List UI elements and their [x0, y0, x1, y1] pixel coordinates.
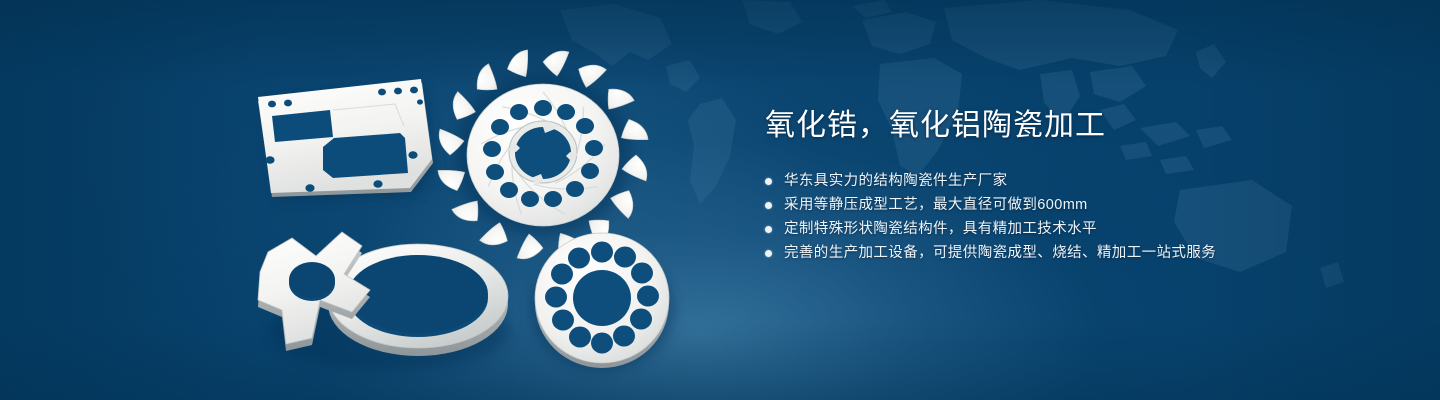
banner-text-column: 氧化锆，氧化铝陶瓷加工 华东具实力的结构陶瓷件生产厂家 采用等静压成型工艺，最大…	[765, 108, 1385, 281]
feature-text: 采用等静压成型工艺，最大直径可做到600mm	[784, 193, 1088, 217]
hero-banner: 氧化锆，氧化铝陶瓷加工 华东具实力的结构陶瓷件生产厂家 采用等静压成型工艺，最大…	[0, 0, 1440, 400]
banner-title: 氧化锆，氧化铝陶瓷加工	[765, 108, 1385, 144]
list-item: 完善的生产加工设备，可提供陶瓷成型、烧结、精加工一站式服务	[765, 241, 1385, 265]
list-item: 华东具实力的结构陶瓷件生产厂家	[765, 169, 1385, 193]
feature-text: 定制特殊形状陶瓷结构件，具有精加工技术水平	[784, 217, 1097, 241]
feature-list: 华东具实力的结构陶瓷件生产厂家 采用等静压成型工艺，最大直径可做到600mm 定…	[765, 169, 1385, 265]
product-ceramic-perforated-disc	[530, 233, 674, 370]
bullet-dot-icon	[765, 202, 772, 209]
bullet-dot-icon	[765, 178, 772, 185]
bullet-dot-icon	[765, 226, 772, 233]
list-item: 定制特殊形状陶瓷结构件，具有精加工技术水平	[765, 217, 1385, 241]
bullet-dot-icon	[765, 250, 772, 257]
feature-text: 完善的生产加工设备，可提供陶瓷成型、烧结、精加工一站式服务	[784, 241, 1216, 265]
feature-text: 华东具实力的结构陶瓷件生产厂家	[784, 169, 1008, 193]
product-ceramic-impeller	[437, 49, 649, 261]
list-item: 采用等静压成型工艺，最大直径可做到600mm	[765, 193, 1385, 217]
product-photo-group	[0, 0, 760, 400]
product-ceramic-cross-and-ring	[258, 232, 510, 370]
product-ceramic-plate	[258, 79, 436, 200]
